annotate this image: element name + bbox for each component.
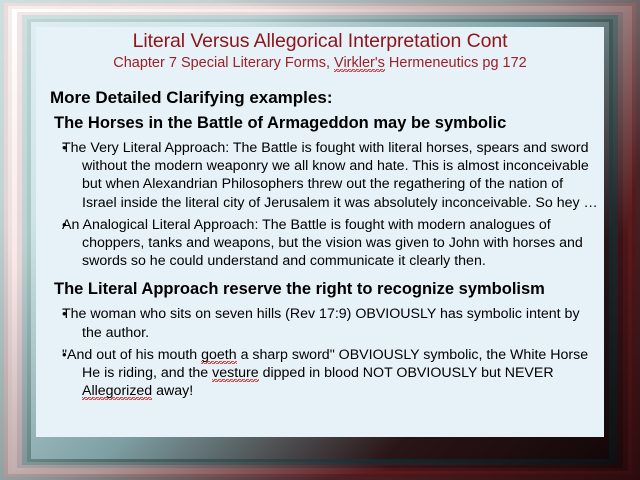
list-item: • An Analogical Literal Approach: The Ba… (36, 216, 600, 271)
page-subtitle: Chapter 7 Special Literary Forms, Virkle… (36, 54, 604, 73)
list-item-label: The woman who sits on seven hills (Rev 1… (62, 306, 580, 340)
subtitle-misspelled-word: Virkler's (334, 55, 385, 72)
list-item-label: The Very Literal Approach: The Battle is… (62, 140, 598, 211)
subtitle-before: Chapter 7 Special Literary Forms, (113, 55, 334, 71)
list-item: • The woman who sits on seven hills (Rev… (36, 305, 600, 341)
subtitle-after: Hermeneutics pg 172 (385, 55, 527, 71)
section-1-heading: • The Horses in the Battle of Armageddon… (36, 112, 600, 135)
list-item: • "And out of his mouth goeth a sharp sw… (36, 346, 600, 401)
bullet-icon: • (62, 346, 67, 364)
slide-content-area: Literal Versus Allegorical Interpretatio… (36, 27, 604, 437)
page-title: Literal Versus Allegorical Interpretatio… (36, 29, 604, 53)
quote-part-1: "And out of his mouth (62, 347, 201, 363)
slide-body: More Detailed Clarifying examples: • The… (36, 87, 604, 400)
section-1-heading-label: The Horses in the Battle of Armageddon m… (54, 114, 506, 132)
misspelled-word-goeth: goeth (201, 347, 237, 364)
section-2-heading: • The Literal Approach reserve the right… (36, 278, 600, 301)
list-item-label: An Analogical Literal Approach: The Batt… (62, 217, 583, 269)
section-2-heading-label: The Literal Approach reserve the right t… (54, 280, 545, 298)
slide-canvas: Literal Versus Allegorical Interpretatio… (0, 0, 640, 480)
bullet-icon: • (62, 305, 67, 323)
misspelled-word-allegorized: Allegorized (82, 383, 152, 400)
body-heading: More Detailed Clarifying examples: (50, 87, 600, 109)
quote-part-3: dipped in blood NOT OBVIOUSLY but NEVER (259, 365, 554, 381)
bullet-icon: • (62, 139, 67, 157)
bullet-icon: • (62, 216, 67, 234)
list-item-label: "And out of his mouth goeth a sharp swor… (62, 347, 588, 400)
misspelled-word-vesture: vesture (212, 365, 259, 382)
list-item: • The Very Literal Approach: The Battle … (36, 139, 600, 212)
quote-part-4: away! (152, 383, 193, 399)
